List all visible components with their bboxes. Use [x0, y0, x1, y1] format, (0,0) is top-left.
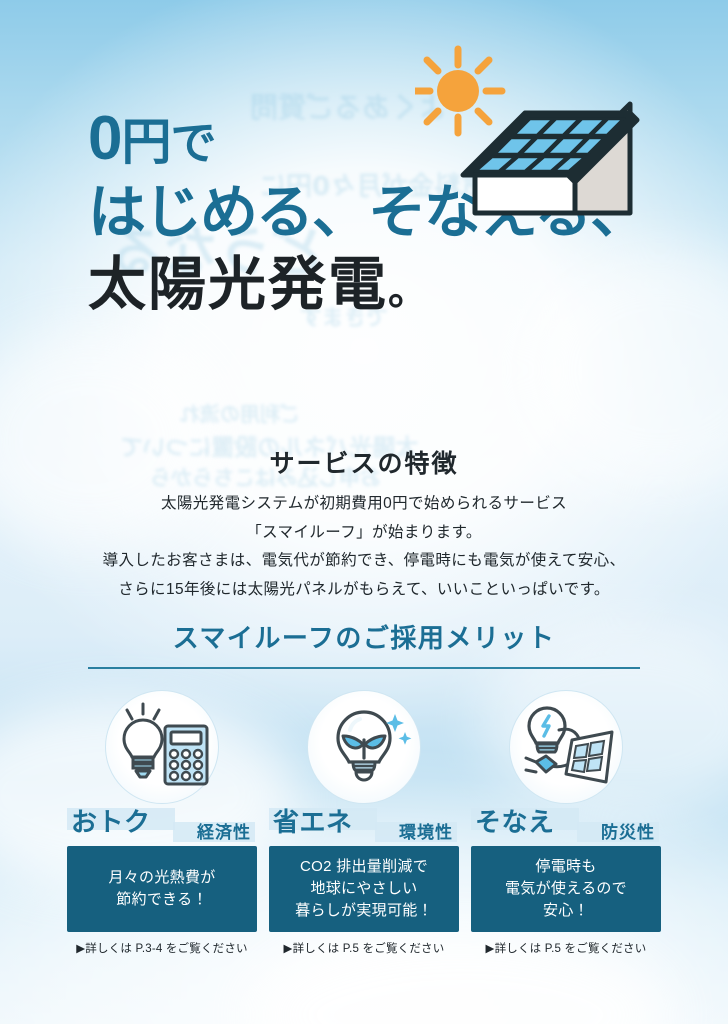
benefits-row: おトク 経済性 — [0, 694, 728, 844]
benefit-labels: そなえ 防災性 — [471, 800, 661, 844]
benefit-box-otoku: 月々の光熱費が 節約できる！ ▶詳しくは P.3-4 をご覧ください — [67, 846, 257, 956]
benefit-boxes-row: 月々の光熱費が 節約できる！ ▶詳しくは P.3-4 をご覧ください CO2 排… — [0, 846, 728, 956]
benefit-box-line: 電気が使えるので — [505, 878, 627, 900]
benefit-icon-wrap — [471, 694, 661, 798]
benefit-box-line: 暮らしが実現可能！ — [295, 900, 433, 922]
benefit-box-body: 月々の光熱費が 節約できる！ — [67, 846, 257, 932]
page-bleed-ghost: ご利用の流れ — [180, 398, 300, 427]
merits-heading: スマイルーフのご採用メリット — [0, 618, 728, 655]
benefit-box-line: 安心！ — [543, 900, 589, 922]
lightbulb-sprout-icon — [312, 700, 416, 792]
headline-yen: 円 — [121, 114, 170, 170]
house-solar-illustration — [415, 45, 685, 235]
benefit-item-shoene: 省エネ 環境性 — [269, 694, 459, 844]
benefit-label: 省エネ — [273, 802, 353, 839]
headline-line-3-text: 太陽光発電 — [88, 252, 388, 317]
benefit-box-line: 節約できる！ — [116, 889, 208, 911]
lightbulb-calculator-icon — [110, 700, 214, 792]
benefit-label: おトク — [71, 802, 151, 839]
benefit-box-body: 停電時も 電気が使えるので 安心！ — [471, 846, 661, 932]
benefit-icon-wrap — [67, 694, 257, 798]
headline-zero: 0 — [88, 104, 121, 173]
benefit-box-line: 月々の光熱費が — [108, 867, 215, 889]
merits-divider — [88, 667, 640, 669]
service-features-title: サービスの特徴 — [0, 444, 728, 480]
sun-disc — [437, 70, 479, 112]
headline-de: で — [170, 117, 215, 169]
benefit-sublabel: 経済性 — [197, 818, 251, 843]
benefit-box-line: 停電時も — [535, 856, 596, 878]
benefit-labels: 省エネ 環境性 — [269, 800, 459, 844]
service-features-line: 太陽光発電システムが初期費用0円で始められるサービス — [0, 490, 728, 519]
benefit-box-line: CO2 排出量削減で — [300, 856, 428, 878]
benefit-box-note[interactable]: ▶詳しくは P.5 をご覧ください — [471, 940, 661, 956]
lightbulb-plug-solarpanel-icon — [514, 700, 618, 792]
benefit-item-otoku: おトク 経済性 — [67, 694, 257, 844]
benefit-sublabel: 防災性 — [601, 818, 655, 843]
benefit-item-sonae: そなえ 防災性 — [471, 694, 661, 844]
benefit-box-note[interactable]: ▶詳しくは P.5 をご覧ください — [269, 940, 459, 956]
benefit-sublabel: 環境性 — [399, 818, 453, 843]
benefit-box-note[interactable]: ▶詳しくは P.3-4 をご覧ください — [67, 940, 257, 956]
service-features-section: サービスの特徴 太陽光発電システムが初期費用0円で始められるサービス 「スマイル… — [0, 444, 728, 605]
benefit-box-sonae: 停電時も 電気が使えるので 安心！ ▶詳しくは P.5 をご覧ください — [471, 846, 661, 956]
benefit-box-shoene: CO2 排出量削減で 地球にやさしい 暮らしが実現可能！ ▶詳しくは P.5 を… — [269, 846, 459, 956]
benefit-labels: おトク 経済性 — [67, 800, 257, 844]
headline-line-3: 太陽光発電。 — [0, 256, 728, 314]
merits-title: スマイルーフのご採用メリット — [0, 618, 728, 655]
service-features-line: 導入したお客さまは、電気代が節約でき、停電時にも電気が使えて安心、 — [0, 547, 728, 576]
benefit-box-line: 地球にやさしい — [310, 878, 417, 900]
headline-line-3-period: 。 — [388, 269, 430, 313]
benefit-icon-wrap — [269, 694, 459, 798]
service-features-line: さらに15年後には太陽光パネルがもらえて、いいこといっぱいです。 — [0, 576, 728, 605]
benefit-label: そなえ — [475, 802, 555, 839]
poster-page: よくあるご質問 電気料金が月々0円に どうなる できます ご利用の流れ 太陽光パ… — [0, 0, 728, 1024]
benefit-box-body: CO2 排出量削減で 地球にやさしい 暮らしが実現可能！ — [269, 846, 459, 932]
service-features-line: 「スマイルーフ」が始まります。 — [0, 519, 728, 548]
